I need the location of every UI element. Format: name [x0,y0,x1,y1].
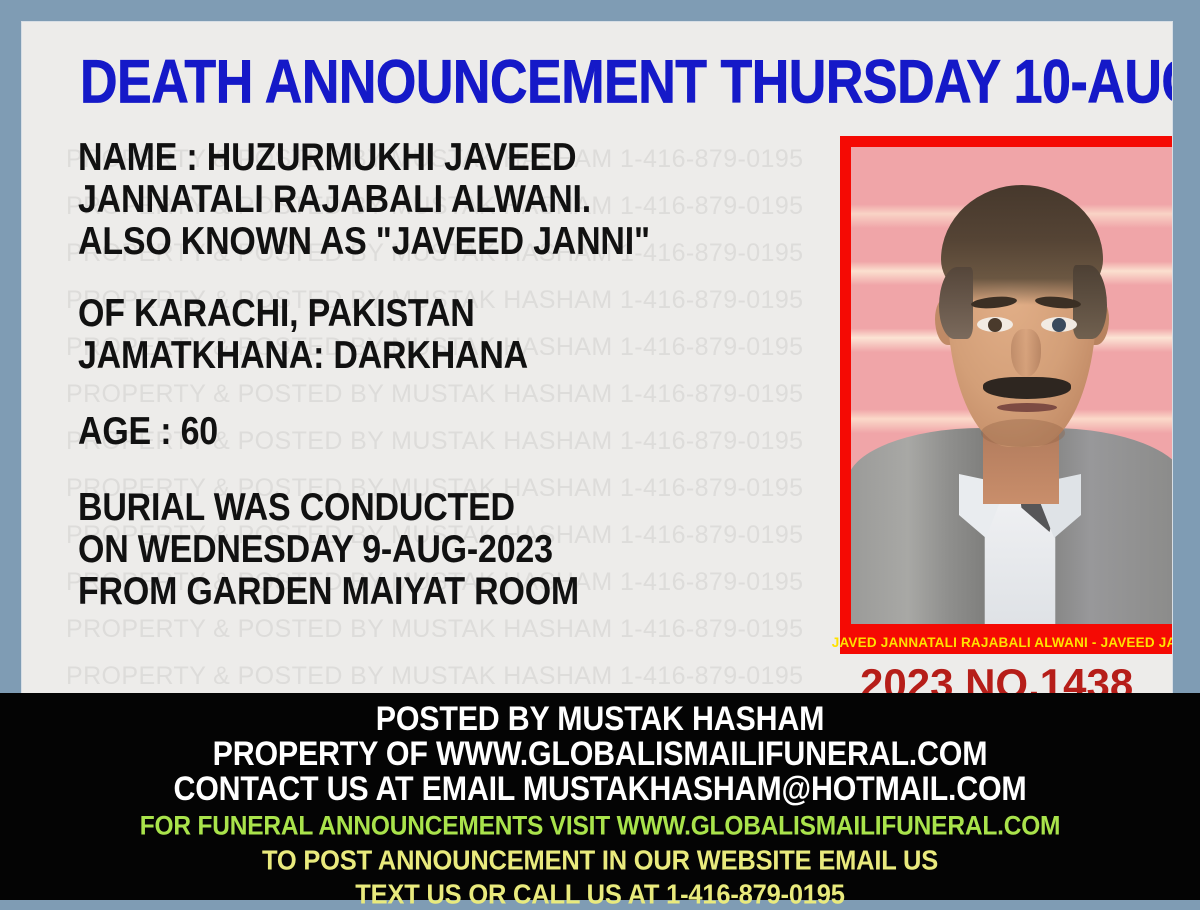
burial-block: BURIAL WAS CONDUCTED ON WEDNESDAY 9-AUG-… [78,484,838,610]
footer-line: FOR FUNERAL ANNOUNCEMENTS VISIT WWW.GLOB… [12,813,1188,840]
portrait-illustration [851,147,1172,624]
photo-caption: JAVED JANNATALI RAJABALI ALWANI - JAVEED… [840,630,1172,654]
footer-line: PROPERTY OF WWW.GLOBALISMAILIFUNERAL.COM [12,736,1188,770]
photo-frame [840,136,1172,654]
iris-left-shape [988,318,1002,332]
age-block: AGE : 60 [78,408,838,450]
spacer [78,450,838,484]
name-block: NAME : HUZURMUKHI JAVEED JANNATALI RAJAB… [78,134,838,260]
footer-line: CONTACT US AT EMAIL MUSTAKHASHAM@HOTMAIL… [12,771,1188,805]
footer-line: TO POST ANNOUNCEMENT IN OUR WEBSITE EMAI… [12,846,1188,874]
footer: POSTED BY MUSTAK HASHAMPROPERTY OF WWW.G… [0,693,1200,900]
moustache-shape [983,377,1071,399]
announcement-card: PROPERTY & POSTED BY MUSTAK HASHAM 1-416… [22,22,1172,693]
watermark-text: PROPERTY & POSTED BY MUSTAK HASHAM 1-416… [66,615,803,644]
hair-left-shape [939,267,973,339]
burial-line: ON WEDNESDAY 9-AUG-2023 [78,526,815,573]
burial-line: BURIAL WAS CONDUCTED [78,484,815,531]
mouth-shape [997,403,1057,412]
death-announcement-poster: PROPERTY & POSTED BY MUSTAK HASHAM 1-416… [0,0,1200,900]
name-line: ALSO KNOWN AS "JAVEED JANNI" [78,218,815,265]
name-line: JANNATALI RAJABALI ALWANI. [78,176,815,223]
burial-line: FROM GARDEN MAIYAT ROOM [78,568,815,615]
watermark-text: PROPERTY & POSTED BY MUSTAK HASHAM 1-416… [66,662,803,691]
age-line: AGE : 60 [78,408,815,455]
spacer [78,374,838,408]
nose-shape [1011,329,1041,377]
name-line: NAME : HUZURMUKHI JAVEED [78,134,815,181]
announcement-body: NAME : HUZURMUKHI JAVEED JANNATALI RAJAB… [78,134,838,610]
location-line: JAMATKHANA: DARKHANA [78,332,815,379]
footer-line: TEXT US OR CALL US AT 1-416-879-0195 [12,880,1188,908]
location-block: OF KARACHI, PAKISTAN JAMATKHANA: DARKHAN… [78,290,838,374]
portrait-photo [851,147,1172,624]
chin-shadow-shape [981,419,1065,447]
page-title: DEATH ANNOUNCEMENT THURSDAY 10-AUG-2023 [80,52,1160,113]
iris-right-shape [1052,318,1066,332]
footer-line: POSTED BY MUSTAK HASHAM [12,701,1188,735]
location-line: OF KARACHI, PAKISTAN [78,290,815,337]
reference-number: 2023 NO.1438 [860,660,1133,693]
